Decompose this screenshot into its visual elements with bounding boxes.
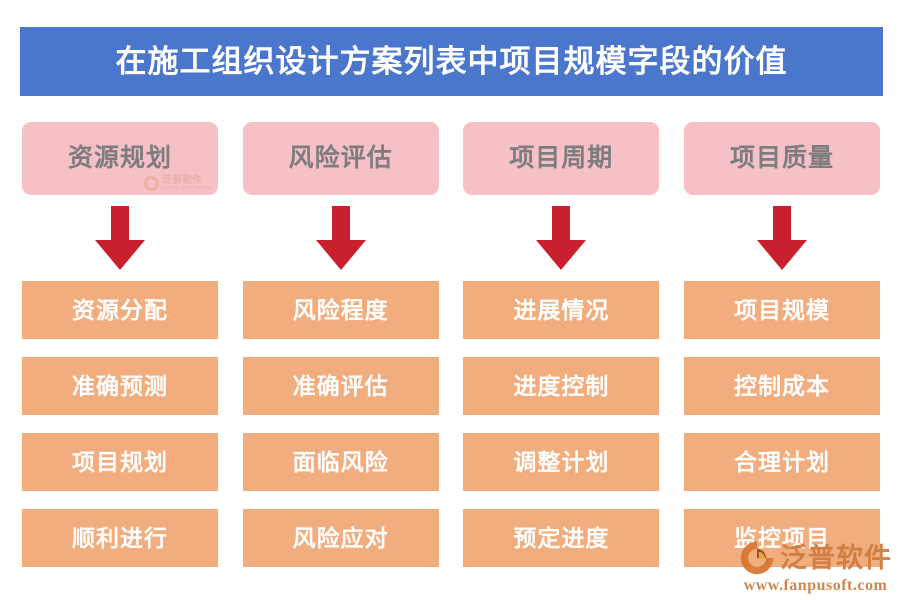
arrow-container <box>684 195 880 281</box>
item-label: 项目规模 <box>734 299 830 322</box>
items-list: 进展情况 进度控制 调整计划 预定进度 <box>463 281 659 567</box>
column-heading-label: 资源规划 <box>68 146 172 171</box>
brand-watermark-small: 泛普软件 FANPU SOFTWARE <box>144 176 212 191</box>
column-resource-planning: 资源规划 泛普软件 FANPU SOFTWARE 资源分配 <box>22 122 218 577</box>
item-label: 进度控制 <box>513 375 609 398</box>
column-risk-assessment: 风险评估 风险程度 准确评估 面临风险 风险应对 <box>243 122 439 577</box>
watermark-brand-cn: 泛普软件 <box>162 176 212 186</box>
item-label: 风险应对 <box>293 527 389 550</box>
item-box[interactable]: 预定进度 <box>463 509 659 567</box>
watermark-url: www.fanpusoft.com <box>744 578 888 594</box>
item-box[interactable]: 进度控制 <box>463 357 659 415</box>
item-label: 合理计划 <box>734 451 830 474</box>
page-title-banner: 在施工组织设计方案列表中项目规模字段的价值 <box>20 27 883 96</box>
down-arrow-icon <box>316 206 366 270</box>
item-box[interactable]: 资源分配 <box>22 281 218 339</box>
column-heading-chip[interactable]: 资源规划 泛普软件 FANPU SOFTWARE <box>22 122 218 195</box>
item-label: 面临风险 <box>293 451 389 474</box>
down-arrow-icon <box>757 206 807 270</box>
column-heading-chip[interactable]: 风险评估 <box>243 122 439 195</box>
arrow-container <box>463 195 659 281</box>
infographic-canvas: 在施工组织设计方案列表中项目规模字段的价值 资源规划 泛普软件 FANPU SO… <box>0 0 900 600</box>
item-label: 顺利进行 <box>72 527 168 550</box>
items-list: 风险程度 准确评估 面临风险 风险应对 <box>243 281 439 567</box>
items-list: 项目规模 控制成本 合理计划 监控项目 <box>684 281 880 567</box>
column-heading-chip[interactable]: 项目质量 <box>684 122 880 195</box>
item-label: 准确预测 <box>72 375 168 398</box>
item-label: 控制成本 <box>734 375 830 398</box>
item-label: 调整计划 <box>513 451 609 474</box>
item-box[interactable]: 风险应对 <box>243 509 439 567</box>
page-title: 在施工组织设计方案列表中项目规模字段的价值 <box>116 46 788 77</box>
item-label: 监控项目 <box>734 527 830 550</box>
item-box[interactable]: 准确评估 <box>243 357 439 415</box>
column-project-quality: 项目质量 项目规模 控制成本 合理计划 监控项目 <box>684 122 880 577</box>
down-arrow-icon <box>95 206 145 270</box>
watermark-brand-en: FANPU SOFTWARE <box>162 186 212 191</box>
column-heading-label: 项目质量 <box>730 146 834 171</box>
item-box[interactable]: 控制成本 <box>684 357 880 415</box>
item-box[interactable]: 项目规划 <box>22 433 218 491</box>
item-box[interactable]: 项目规模 <box>684 281 880 339</box>
item-box[interactable]: 合理计划 <box>684 433 880 491</box>
arrow-container <box>243 195 439 281</box>
item-box[interactable]: 进展情况 <box>463 281 659 339</box>
item-box[interactable]: 调整计划 <box>463 433 659 491</box>
column-heading-label: 项目周期 <box>509 146 613 171</box>
column-project-cycle: 项目周期 进展情况 进度控制 调整计划 预定进度 <box>463 122 659 577</box>
item-label: 项目规划 <box>72 451 168 474</box>
item-box[interactable]: 监控项目 <box>684 509 880 567</box>
item-label: 预定进度 <box>513 527 609 550</box>
column-heading-label: 风险评估 <box>289 146 393 171</box>
down-arrow-icon <box>536 206 586 270</box>
item-box[interactable]: 顺利进行 <box>22 509 218 567</box>
item-label: 进展情况 <box>513 299 609 322</box>
item-box[interactable]: 面临风险 <box>243 433 439 491</box>
item-label: 资源分配 <box>72 299 168 322</box>
columns-container: 资源规划 泛普软件 FANPU SOFTWARE 资源分配 <box>22 122 880 577</box>
item-label: 风险程度 <box>293 299 389 322</box>
item-box[interactable]: 风险程度 <box>243 281 439 339</box>
item-box[interactable]: 准确预测 <box>22 357 218 415</box>
fanpu-logo-icon <box>144 176 159 191</box>
arrow-container <box>22 195 218 281</box>
column-heading-chip[interactable]: 项目周期 <box>463 122 659 195</box>
items-list: 资源分配 准确预测 项目规划 顺利进行 <box>22 281 218 567</box>
item-label: 准确评估 <box>293 375 389 398</box>
